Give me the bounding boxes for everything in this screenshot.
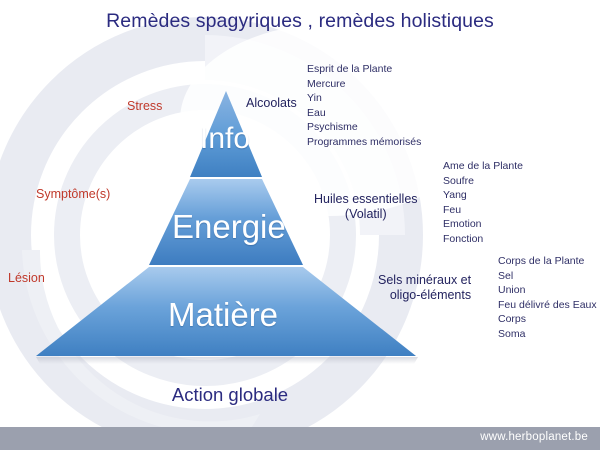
list-item: Ame de la Plante [443,159,523,174]
list-item: Corps [498,312,597,327]
list-item: Fonction [443,232,523,247]
callout-huiles-essentielles: Huiles essentielles (Volatil) [314,192,418,222]
callout-huiles-line2: (Volatil) [314,207,418,222]
callout-huiles-line1: Huiles essentielles [314,192,418,207]
list-item: Feu [443,203,523,218]
list-item: Psychisme [307,120,421,135]
list-item: Programmes mémorisés [307,135,421,150]
footer-website-url: www.herboplanet.be [480,431,588,443]
list-item: Feu délivré des Eaux [498,298,597,313]
list-item: Eau [307,106,421,121]
callout-alcoolats: Alcoolats [246,96,297,111]
list-info-correspondences: Esprit de la Plante Mercure Yin Eau Psyc… [307,62,421,149]
slide-canvas: Remèdes spagyriques , remèdes holistique… [0,0,600,450]
callout-sels-mineraux: Sels minéraux et oligo-éléments [378,273,471,303]
list-item: Esprit de la Plante [307,62,421,77]
list-energie-correspondences: Ame de la Plante Soufre Yang Feu Emotion… [443,159,523,246]
pyramid-label-energie: Energie [172,208,286,246]
list-item: Yang [443,188,523,203]
list-item: Yin [307,91,421,106]
list-item: Mercure [307,77,421,92]
note-lesion: Lésion [8,271,45,285]
pyramid-label-matiere: Matière [168,296,278,334]
list-item: Emotion [443,217,523,232]
pyramid-label-info: Info [200,122,250,156]
page-title: Remèdes spagyriques , remèdes holistique… [0,10,600,33]
list-item: Union [498,283,597,298]
list-item: Corps de la Plante [498,254,597,269]
list-matiere-correspondences: Corps de la Plante Sel Union Feu délivré… [498,254,597,341]
note-stress: Stress [127,99,162,113]
callout-sels-line1: Sels minéraux et [378,273,471,288]
list-item: Soma [498,327,597,342]
list-item: Sel [498,269,597,284]
slide-caption: Action globale [0,384,460,406]
list-item: Soufre [443,174,523,189]
footer-bar: www.herboplanet.be [0,427,600,450]
callout-sels-line2: oligo-éléments [378,288,471,303]
note-symptome: Symptôme(s) [36,187,110,201]
